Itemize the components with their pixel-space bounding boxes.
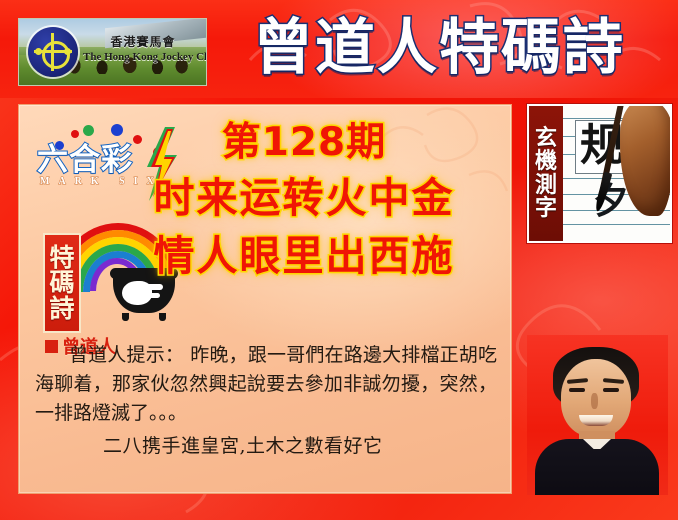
tip-block: 曾道人提示： 昨晚，跟一哥們在路邊大排檔正胡吃海聊着，那家伙忽然興起說要去參加非… [35, 341, 497, 461]
jockey-club-name-cn: 香港賽馬會 [83, 33, 203, 50]
portrait-photo-icon [527, 335, 668, 495]
main-content-panel: 六合彩 MARK SIX [18, 104, 512, 494]
poem-block: 第128期 时来运转火中金 情人眼里出西施 [105, 115, 503, 277]
poem-line-2: 情人眼里出西施 [105, 236, 503, 277]
tip-paragraph: 曾道人提示： 昨晚，跟一哥們在路邊大排檔正胡吃海聊着，那家伙忽然興起說要去參加非… [35, 341, 497, 428]
jockey-club-name-en: The Hong Kong Jockey Club [83, 51, 203, 63]
tag-char-1: 特 [49, 245, 74, 271]
jockey-club-logo: 香港賽馬會 The Hong Kong Jockey Club [18, 18, 207, 86]
tip-verse: 二八携手進皇宮,土木之數看好它 [35, 432, 497, 461]
tag-char-3: 詩 [49, 296, 74, 322]
xuanji-char-3: 測 [535, 174, 557, 197]
calligraphy-image: 规 夕 [563, 106, 670, 241]
xuanji-char-1: 玄 [535, 127, 557, 150]
xuanji-vertical-label: 玄 機 測 字 [529, 106, 563, 241]
issue-number: 第128期 [105, 123, 503, 162]
page-title: 曾道人特碼詩 [208, 8, 670, 88]
temashi-vertical-tag: 特 碼 詩 [43, 233, 81, 333]
xuanji-char-4: 字 [535, 197, 557, 220]
jockey-club-emblem-icon [28, 27, 78, 77]
tag-char-2: 碼 [49, 270, 74, 296]
header-banner: 香港賽馬會 The Hong Kong Jockey Club 曾道人特碼詩 [0, 0, 678, 98]
poem-line-1: 时来运转火中金 [105, 178, 503, 219]
jockey-club-name: 香港賽馬會 The Hong Kong Jockey Club [83, 33, 203, 63]
xuanji-char-2: 機 [535, 150, 557, 173]
page-root: 香港賽馬會 The Hong Kong Jockey Club 曾道人特碼詩 [0, 0, 678, 520]
xuanji-ceshi-panel: 玄 機 測 字 规 夕 [527, 104, 672, 243]
